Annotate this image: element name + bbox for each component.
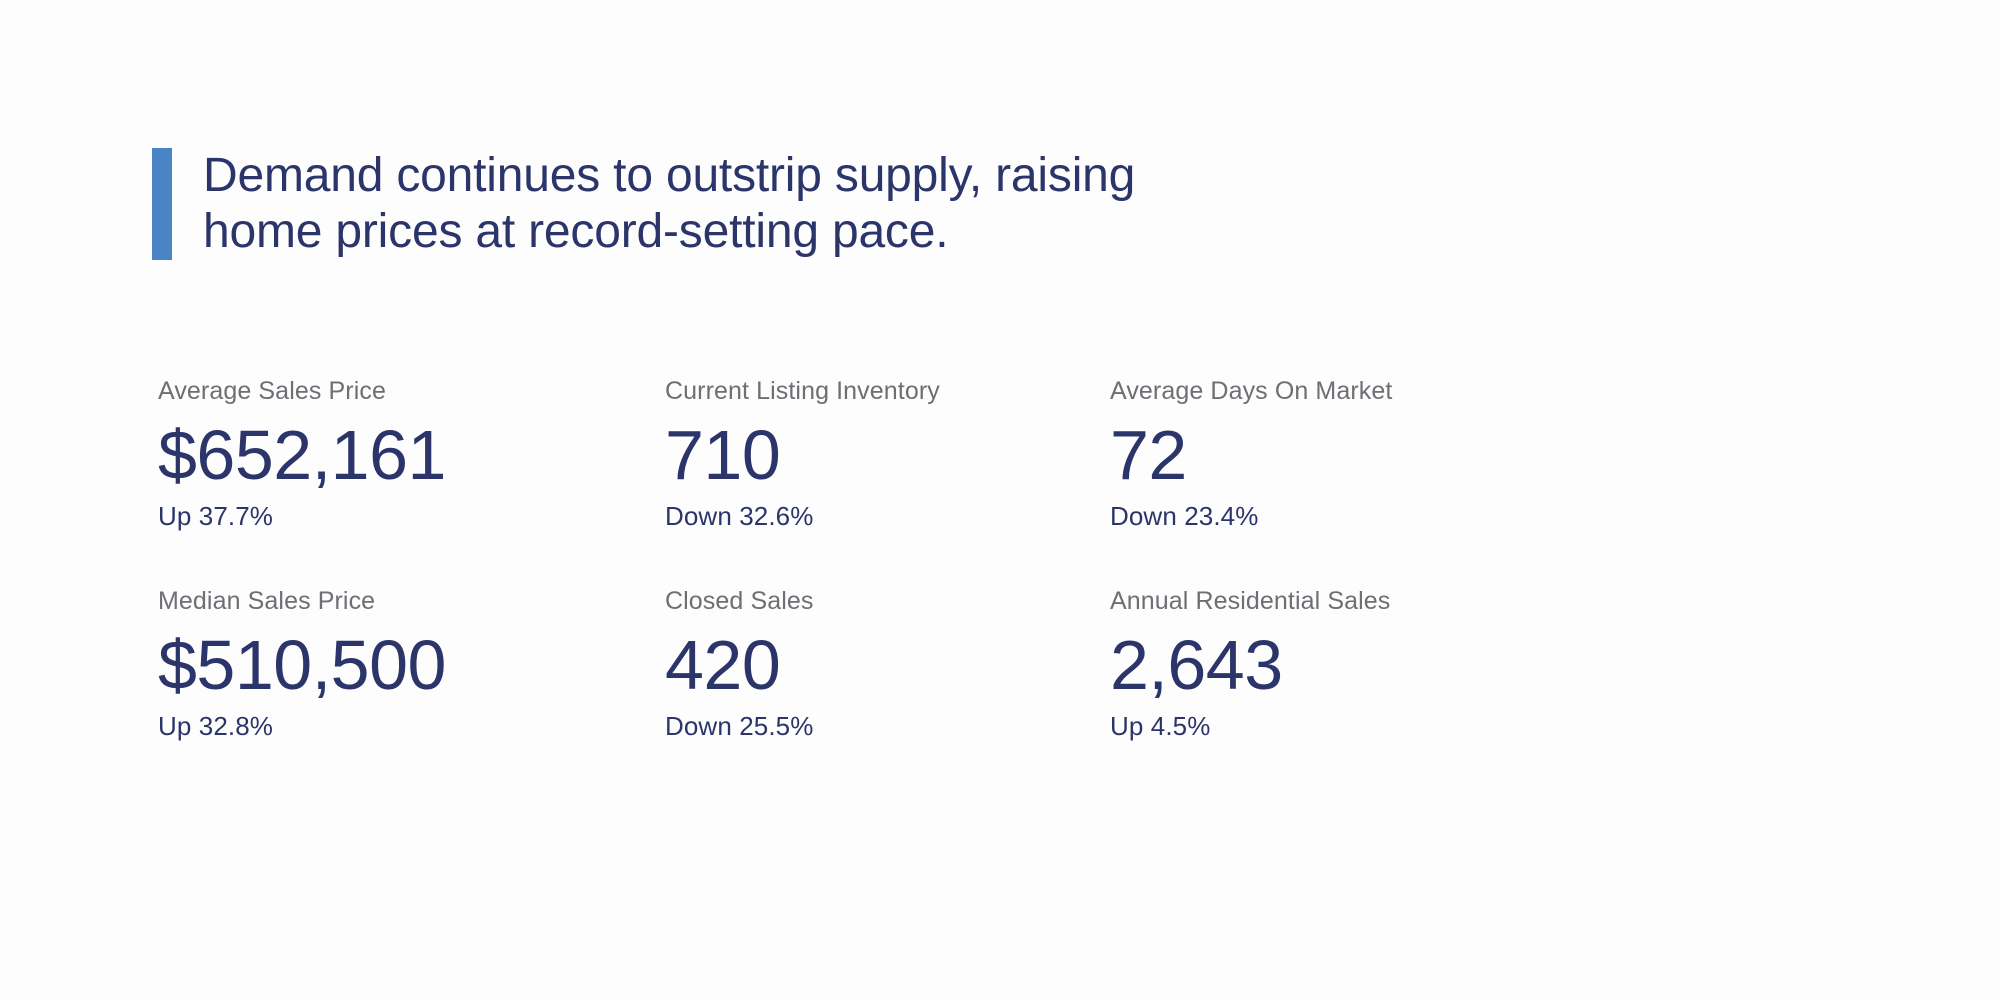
stat-label: Annual Residential Sales (1110, 588, 1610, 616)
stat-card-median-sales-price: Median Sales Price $510,500 Up 32.8% (158, 588, 665, 740)
stat-card-current-listing-inventory: Current Listing Inventory 710 Down 32.6% (665, 378, 1110, 530)
stat-card-closed-sales: Closed Sales 420 Down 25.5% (665, 588, 1110, 740)
stat-change: Down 32.6% (665, 502, 1110, 531)
stat-label: Average Sales Price (158, 378, 665, 406)
stat-change: Up 32.8% (158, 712, 665, 741)
stat-label: Average Days On Market (1110, 378, 1610, 406)
stat-change: Down 23.4% (1110, 502, 1610, 531)
stat-change: Down 25.5% (665, 712, 1110, 741)
stat-card-average-days-on-market: Average Days On Market 72 Down 23.4% (1110, 378, 1610, 530)
stat-label: Current Listing Inventory (665, 378, 1110, 406)
stat-label: Closed Sales (665, 588, 1110, 616)
headline-block: Demand continues to outstrip supply, rai… (152, 148, 1135, 260)
stat-value: $510,500 (158, 630, 665, 700)
accent-bar (152, 148, 172, 260)
stat-value: 72 (1110, 420, 1610, 490)
stat-value: $652,161 (158, 420, 665, 490)
stat-value: 420 (665, 630, 1110, 700)
stat-card-average-sales-price: Average Sales Price $652,161 Up 37.7% (158, 378, 665, 530)
stats-grid: Average Sales Price $652,161 Up 37.7% Cu… (158, 378, 1658, 740)
market-stats-page: Demand continues to outstrip supply, rai… (0, 0, 2000, 1000)
stat-value: 710 (665, 420, 1110, 490)
stat-label: Median Sales Price (158, 588, 665, 616)
stat-change: Up 37.7% (158, 502, 665, 531)
stat-value: 2,643 (1110, 630, 1610, 700)
stat-change: Up 4.5% (1110, 712, 1610, 741)
page-title: Demand continues to outstrip supply, rai… (172, 148, 1135, 260)
stat-card-annual-residential-sales: Annual Residential Sales 2,643 Up 4.5% (1110, 588, 1610, 740)
